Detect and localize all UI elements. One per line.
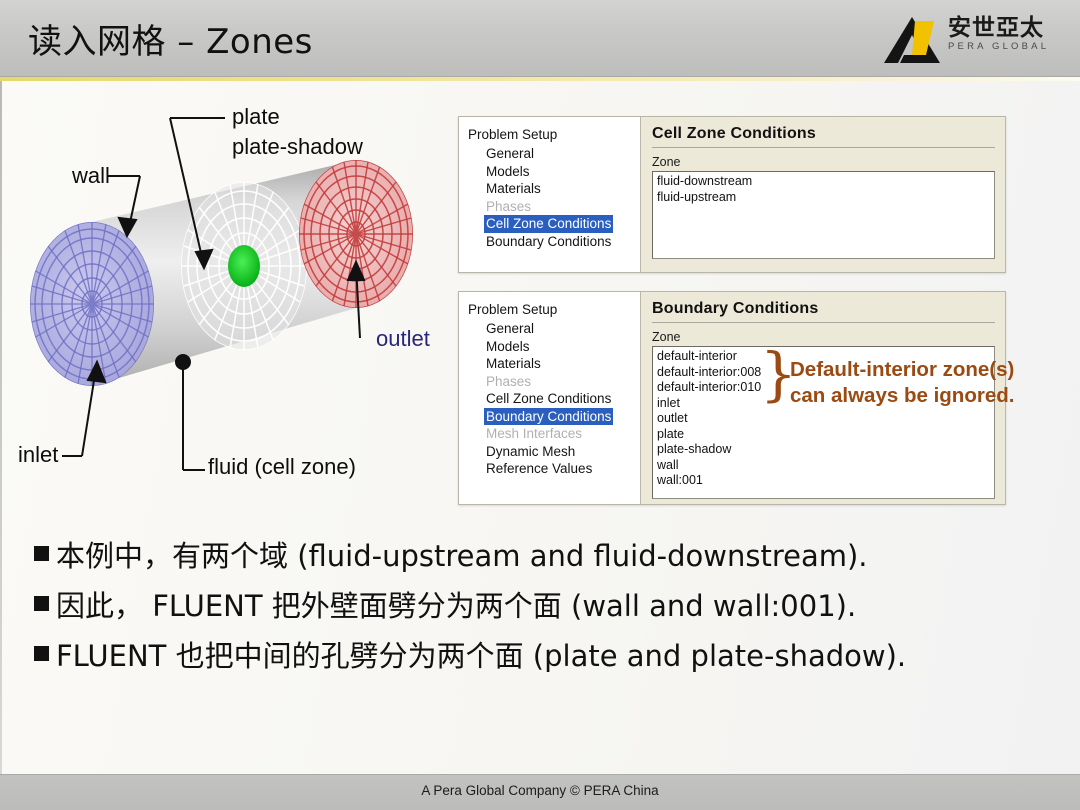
zone-list-label: Zone [652, 330, 995, 344]
triangle-logo-icon [882, 15, 944, 65]
tree-item-materials[interactable]: Materials [484, 180, 543, 198]
tree-item-boundary-conditions[interactable]: Boundary Conditions [484, 408, 613, 426]
diagram-label-outlet: outlet [376, 326, 430, 352]
list-item: 本例中，有两个域 (fluid-upstream and fluid-downs… [34, 536, 1054, 577]
cell-zone-listbox[interactable]: fluid-downstream fluid-upstream [652, 171, 995, 259]
pane-divider [652, 322, 995, 323]
slide-footer: A Pera Global Company © PERA China [0, 774, 1080, 810]
header-accent-rule [0, 77, 1080, 81]
zone-list-item[interactable]: outlet [657, 411, 994, 427]
diagram-label-fluid: fluid (cell zone) [208, 454, 356, 480]
diagram-label-inlet: inlet [18, 442, 58, 468]
zone-list-item[interactable]: wall:001 [657, 473, 994, 489]
diagram-label-plate: plate [232, 104, 280, 130]
problem-setup-tree-boundary[interactable]: Problem Setup General Models Materials P… [459, 292, 641, 504]
bullet-square-icon [34, 546, 49, 561]
problem-setup-tree-cell-zone[interactable]: Problem Setup General Models Materials P… [459, 117, 641, 272]
tree-item-boundary-conditions[interactable]: Boundary Conditions [484, 233, 613, 251]
bullet-text: 本例中，有两个域 (fluid-upstream and fluid-downs… [56, 536, 868, 577]
pipe-mesh-diagram: plate plate-shadow wall outlet inlet flu… [0, 86, 456, 516]
list-item: FLUENT 也把中间的孔劈分为两个面 (plate and plate-sha… [34, 636, 1054, 677]
diagram-label-wall: wall [72, 163, 110, 189]
tree-item-mesh-interfaces: Mesh Interfaces [484, 425, 584, 443]
list-item: 因此， FLUENT 把外壁面劈分为两个面 (wall and wall:001… [34, 586, 1054, 627]
tree-root-label: Problem Setup [468, 127, 640, 142]
zone-list-item[interactable]: wall [657, 458, 994, 474]
logo-text-en: PERA GLOBAL [948, 41, 1060, 53]
annotation-line-1: Default-interior zone(s) [790, 357, 1014, 383]
annotation-line-2: can always be ignored. [790, 383, 1014, 409]
tree-item-cell-zone-conditions[interactable]: Cell Zone Conditions [484, 215, 613, 233]
tree-item-general[interactable]: General [484, 320, 536, 338]
diagram-label-plate-shadow: plate-shadow [232, 134, 363, 160]
zone-list-item[interactable]: plate [657, 427, 994, 443]
zone-list-item[interactable]: fluid-downstream [657, 174, 994, 190]
tree-item-models[interactable]: Models [484, 163, 532, 181]
slide: 读入网格 – Zones 安世亞太 PERA GLOBAL [0, 0, 1080, 810]
pane-title-cell-zone: Cell Zone Conditions [652, 125, 995, 143]
cell-zone-pane: Cell Zone Conditions Zone fluid-downstre… [642, 117, 1005, 272]
tree-item-phases: Phases [484, 198, 533, 216]
tree-item-cell-zone-conditions[interactable]: Cell Zone Conditions [484, 390, 613, 408]
bullet-square-icon [34, 596, 49, 611]
tree-root-label: Problem Setup [468, 302, 640, 317]
hole-marker [228, 245, 260, 287]
zone-list-item[interactable]: fluid-upstream [657, 190, 994, 206]
pane-divider [652, 147, 995, 148]
bullet-text: FLUENT 也把中间的孔劈分为两个面 (plate and plate-sha… [56, 636, 906, 677]
cell-zone-conditions-panel[interactable]: Problem Setup General Models Materials P… [458, 116, 1006, 273]
zone-list-label: Zone [652, 155, 995, 169]
page-title: 读入网格 – Zones [28, 14, 313, 63]
bullet-list: 本例中，有两个域 (fluid-upstream and fluid-downs… [34, 536, 1054, 686]
tree-item-reference-values[interactable]: Reference Values [484, 460, 594, 478]
tree-item-models[interactable]: Models [484, 338, 532, 356]
logo-text-cn: 安世亞太 [948, 16, 1060, 41]
pipe-mesh-graphic [0, 86, 456, 516]
tree-item-materials[interactable]: Materials [484, 355, 543, 373]
tree-item-phases: Phases [484, 373, 533, 391]
bullet-text: 因此， FLUENT 把外壁面劈分为两个面 (wall and wall:001… [56, 586, 856, 627]
tree-item-general[interactable]: General [484, 145, 536, 163]
footer-text: A Pera Global Company © PERA China [0, 783, 1080, 798]
pane-title-boundary: Boundary Conditions [652, 300, 995, 318]
bullet-square-icon [34, 646, 49, 661]
tree-item-dynamic-mesh[interactable]: Dynamic Mesh [484, 443, 577, 461]
brand-logo: 安世亞太 PERA GLOBAL [882, 12, 1062, 68]
zone-list-item[interactable]: plate-shadow [657, 442, 994, 458]
